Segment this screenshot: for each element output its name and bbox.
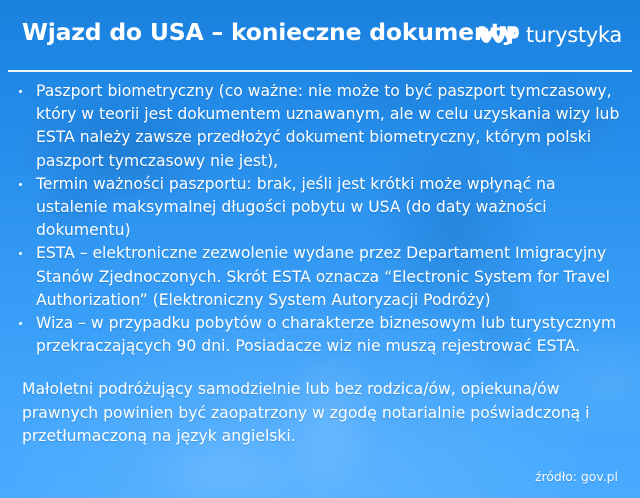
wp-logo-icon — [477, 22, 519, 48]
header: Wjazd do USA – konieczne dokumenty turys… — [0, 0, 640, 70]
list-item: Paszport biometryczny (co ważne: nie moż… — [14, 80, 626, 173]
header-divider — [8, 70, 632, 72]
infographic-card: Wjazd do USA – konieczne dokumenty turys… — [0, 0, 640, 498]
page-title: Wjazd do USA – konieczne dokumenty — [22, 18, 517, 46]
content-body: Paszport biometryczny (co ważne: nie moż… — [0, 80, 640, 448]
brand-logo: turystyka — [477, 22, 622, 48]
list-item: Termin ważności paszportu: brak, jeśli j… — [14, 173, 626, 243]
source-attribution: źródło: gov.pl — [535, 469, 618, 484]
closing-paragraph: Małoletni podróżujący samodzielnie lub b… — [22, 378, 624, 448]
list-item: ESTA – elektroniczne zezwolenie wydane p… — [14, 242, 626, 312]
document-requirements-list: Paszport biometryczny (co ważne: nie moż… — [0, 80, 640, 358]
list-item: Wiza – w przypadku pobytów o charakterze… — [14, 312, 626, 358]
brand-logo-text: turystyka — [526, 25, 622, 46]
